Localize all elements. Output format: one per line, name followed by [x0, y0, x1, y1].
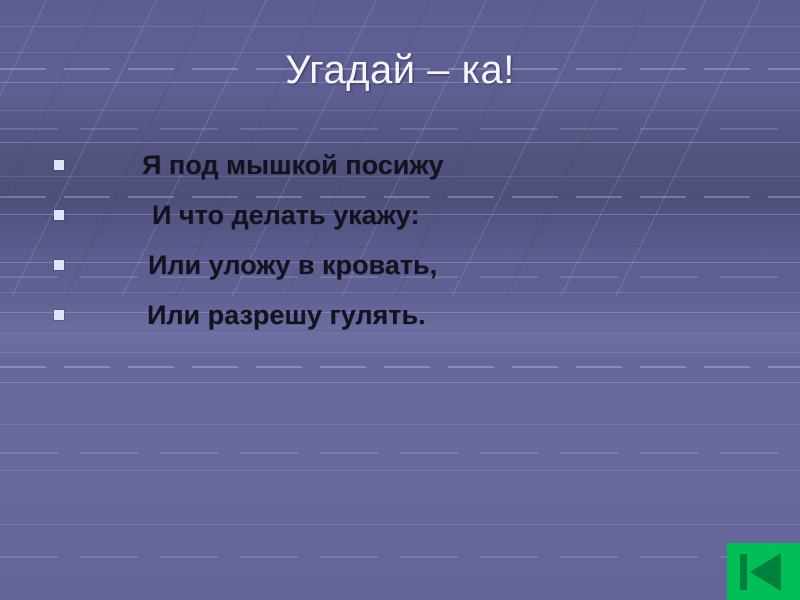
- list-item: Или разрешу гулять.: [0, 290, 700, 340]
- slide-bullet-list: Я под мышкой посижу И что делать укажу: …: [0, 140, 700, 340]
- bullet-text: Или уложу в кровать,: [148, 250, 437, 281]
- bullet-square-icon: [54, 260, 64, 270]
- list-item: Я под мышкой посижу: [0, 140, 700, 190]
- skip-to-start-icon: [740, 549, 790, 594]
- presentation-slide: Угадай – ка! Я под мышкой посижу И что д…: [0, 0, 800, 600]
- bullet-text: Или разрешу гулять.: [147, 300, 426, 331]
- skip-to-start-bar-icon: [740, 554, 747, 590]
- bullet-square-icon: [54, 210, 64, 220]
- bullet-text: Я под мышкой посижу: [142, 150, 444, 181]
- bullet-text: И что делать укажу:: [152, 200, 419, 231]
- list-item: Или уложу в кровать,: [0, 240, 700, 290]
- list-item: И что делать укажу:: [0, 190, 700, 240]
- bullet-square-icon: [54, 310, 64, 320]
- first-slide-button[interactable]: [727, 543, 800, 600]
- slide-title: Угадай – ка!: [0, 48, 800, 93]
- skip-to-start-triangle-icon: [750, 553, 781, 591]
- bullet-square-icon: [54, 160, 64, 170]
